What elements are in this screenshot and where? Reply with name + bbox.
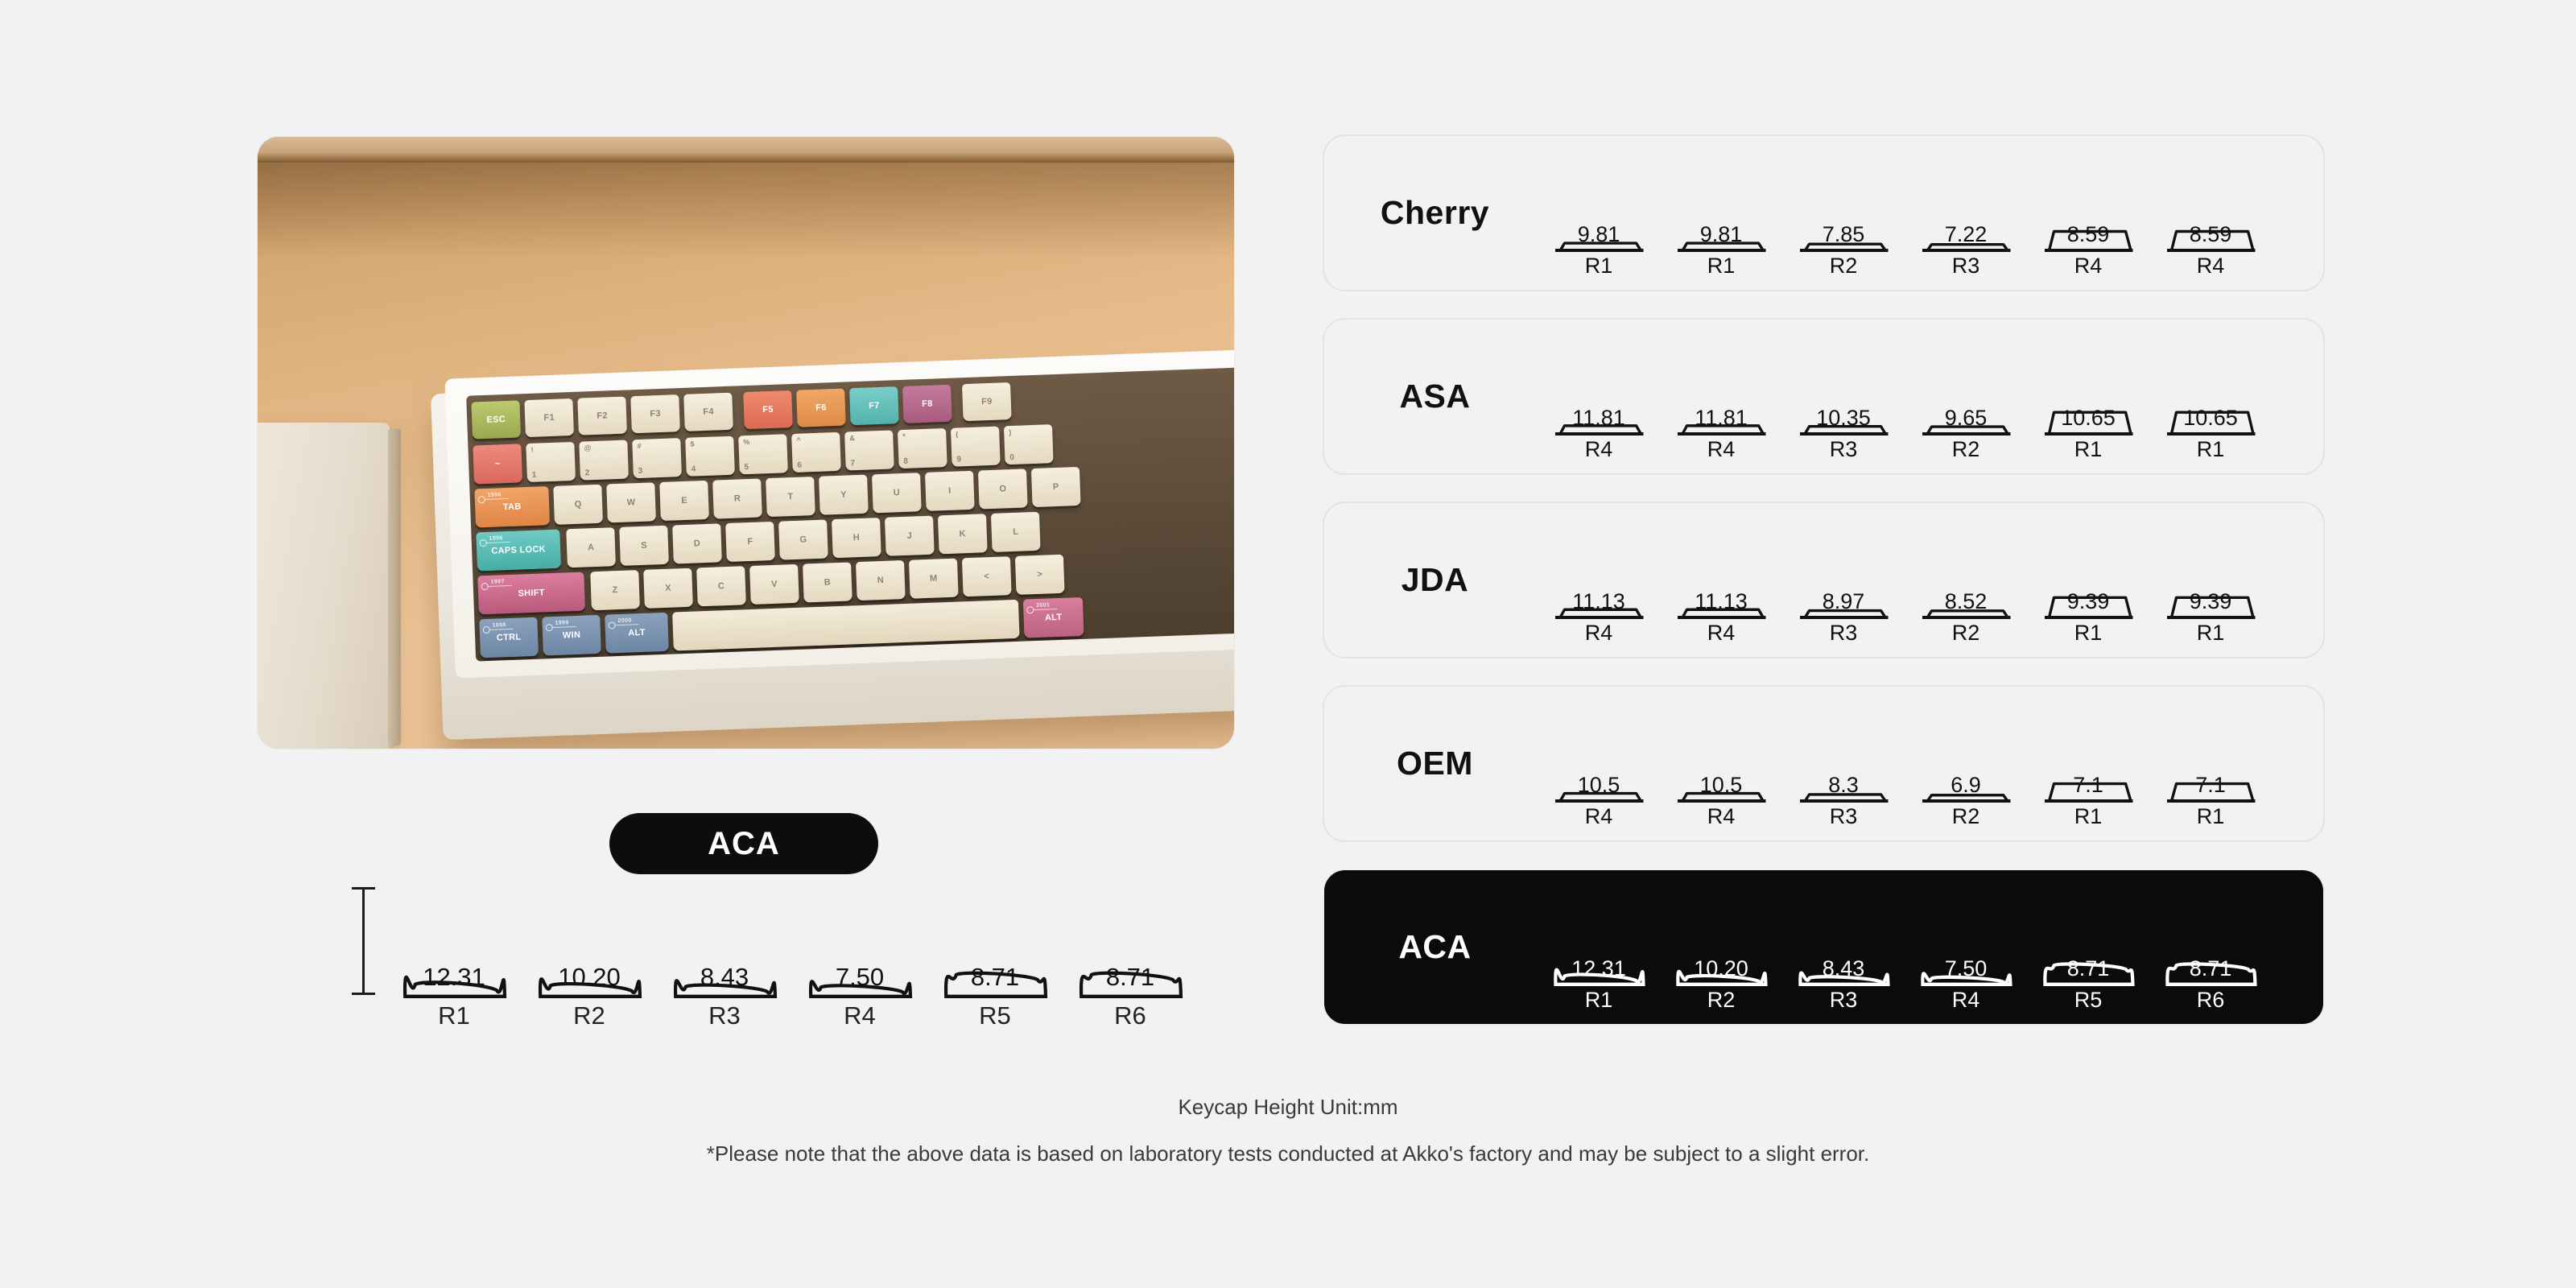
featured-profile-row: 12.31R1 10.20R2 8.43R3 7.50R4 8.71R5 8.7… [386, 869, 1143, 1030]
profile-card-asa: ASA 11.81R4 11.81R4 10.35R3 9.65R2 10.65… [1323, 318, 2325, 475]
key-label: F1 [543, 413, 555, 423]
keycap-f6: F6 [796, 389, 846, 427]
keycap-silhouette-icon: 8.59 [2027, 184, 2149, 252]
keycap-silhouette-icon: 8.71 [927, 908, 1063, 998]
keycap-row-label: R3 [1782, 437, 1905, 462]
keycap-f9: F9 [962, 382, 1012, 421]
keycap-m: M [909, 559, 959, 599]
keycap-row-label: R4 [792, 1001, 927, 1030]
key-label: 8 [903, 457, 908, 466]
key-label: L [1013, 527, 1018, 537]
measure-bar [362, 887, 365, 995]
keycap-f2: F2 [577, 397, 627, 436]
keycap-item: 6.9R2 [1905, 741, 2027, 829]
key-label-shifted: # [637, 442, 642, 450]
keycap-silhouette-icon: 10.20 [522, 902, 657, 998]
keycap-row-label: R1 [2027, 621, 2149, 646]
key-label: 5 [744, 463, 749, 472]
key-label: H [853, 533, 861, 543]
keycap-silhouette-icon: 9.39 [2027, 547, 2149, 619]
keycap-item: 9.81R1 [1660, 179, 1782, 279]
keycap-row-label: R6 [1063, 1001, 1198, 1030]
profile-keycaps: 11.81R4 11.81R4 10.35R3 9.65R2 10.65R1 1… [1538, 320, 2315, 473]
keycap-row-label: R5 [927, 1001, 1063, 1030]
keycap-e: E [659, 481, 709, 521]
keycap-item: 11.81R4 [1660, 354, 1782, 462]
keycap-shift: SHIFT1997 [477, 572, 585, 615]
key-label: F8 [922, 399, 933, 409]
keycap-height-value: 7.22 [1905, 222, 2027, 247]
featured-keycap-item: 8.43R3 [657, 910, 792, 1030]
key-label: 7 [850, 459, 855, 468]
keycap-row-label: R2 [1905, 804, 2027, 829]
keycap-win: WIN1999 [542, 615, 601, 656]
key-label: F5 [762, 405, 774, 415]
keycap-item: 8.71R5 [2027, 917, 2149, 1013]
key-label: D [694, 539, 701, 548]
featured-keycap-item: 8.71R6 [1063, 908, 1198, 1030]
keycap-silhouette-icon: 10.35 [1782, 360, 1905, 436]
keycap-item: 7.50R4 [1905, 922, 2027, 1013]
keycap-1: !1 [526, 442, 576, 482]
keycap-f8: F8 [902, 385, 952, 423]
key-label: F9 [981, 397, 993, 407]
key-label: N [877, 576, 885, 585]
year-legend: 1999 [555, 620, 568, 626]
keycap-silhouette-icon: 10.65 [2027, 358, 2149, 436]
keycap-tab: TAB1996 [474, 486, 550, 527]
keycap-height-value: 10.5 [1538, 773, 1660, 798]
key-label: K [959, 529, 966, 539]
keycap-silhouette-icon: 11.81 [1660, 354, 1782, 436]
year-legend: 1998 [492, 622, 506, 629]
keyboard-body: ESCF1F2F3F4F5F6F7F8F9~!1@2#3$4%5^6&7*8(9… [429, 313, 1234, 749]
keycap-row-label: R4 [1660, 804, 1782, 829]
keycap-height-value: 10.20 [522, 963, 657, 992]
key-label-shifted: ^ [796, 436, 801, 444]
unit-note: Keycap Height Unit:mm [0, 1095, 2576, 1120]
keycap-silhouette-icon: 7.50 [792, 914, 927, 998]
featured-keycap-item: 8.71R5 [927, 908, 1063, 1030]
keycap-height-value: 8.71 [2027, 956, 2149, 981]
profile-card-aca: ACA 12.31R1 10.20R2 8.43R3 7.50R4 8.71R5… [1323, 869, 2325, 1026]
profile-card-oem: OEM 10.5R4 10.5R4 8.3R3 6.9R2 7.1R1 7.1R… [1323, 685, 2325, 842]
keycap-height-value: 8.97 [1782, 589, 1905, 614]
year-legend: 1997 [490, 579, 504, 585]
key-label: 1 [532, 471, 537, 480]
keycap-height-value: 10.65 [2149, 406, 2272, 431]
keycap-row-label: R2 [522, 1001, 657, 1030]
desk-edge [258, 137, 1234, 163]
infographic-stage: ESCF1F2F3F4F5F6F7F8F9~!1@2#3$4%5^6&7*8(9… [0, 0, 2576, 1288]
keycap-height-value: 11.13 [1538, 589, 1660, 614]
keycap-row-label: R4 [1660, 621, 1782, 646]
year-legend: 1996 [489, 535, 503, 542]
profile-card-jda: JDA 11.13R4 11.13R4 8.97R3 8.52R2 9.39R1… [1323, 502, 2325, 658]
year-legend: 1996 [488, 492, 502, 498]
keycap-row-label: R2 [1905, 437, 2027, 462]
profile-name: OEM [1324, 687, 1546, 840]
keycap-5: %5 [738, 434, 788, 474]
keycap-item: 9.39R1 [2027, 547, 2149, 646]
keycap-height-value: 8.43 [657, 963, 792, 992]
key-label: 0 [1009, 453, 1014, 462]
keycap-z: Z [590, 570, 640, 610]
key-label: Z [612, 585, 617, 595]
keycap-item: 8.59R4 [2027, 184, 2149, 279]
key-label: < [984, 572, 989, 581]
keycap-row-label: R4 [1660, 437, 1782, 462]
keycap-row-label: R1 [2027, 804, 2149, 829]
keycap-silhouette-icon: 11.13 [1660, 540, 1782, 619]
keycap-height-value: 12.31 [1538, 956, 1660, 981]
keycap-silhouette-icon: 11.81 [1538, 354, 1660, 436]
keycap-silhouette-icon: 8.43 [657, 910, 792, 998]
key-label: F2 [597, 411, 608, 420]
keycap-height-value: 10.20 [1660, 956, 1782, 981]
keycap-n: N [856, 560, 906, 601]
keycap-9: (9 [951, 427, 1001, 467]
keycap-t: T [766, 477, 815, 517]
keycap-silhouette-icon: 7.50 [1905, 922, 2027, 986]
keycap-item: 7.22R3 [1905, 189, 2027, 279]
keycap-silhouette-icon: 8.71 [1063, 908, 1198, 998]
keycap-c: C [696, 566, 746, 606]
keycap-item: 7.85R2 [1782, 186, 1905, 279]
key-label-shifted: % [743, 438, 750, 446]
keycap-height-value: 7.1 [2027, 773, 2149, 798]
keycap-v: V [749, 564, 799, 605]
year-line-icon [552, 626, 576, 628]
profile-name: ASA [1324, 320, 1546, 473]
keycap-silhouette-icon: 7.85 [1782, 186, 1905, 252]
keycap-silhouette-icon: 8.71 [2027, 917, 2149, 986]
keycap-silhouette-icon: 8.97 [1782, 549, 1905, 619]
keycap-silhouette-icon: 10.20 [1660, 911, 1782, 986]
key-label-shifted: ! [530, 446, 534, 454]
keycap-2: @2 [579, 440, 629, 480]
profile-keycaps: 9.81R1 9.81R1 7.85R2 7.22R3 8.59R4 8.59R… [1538, 136, 2315, 290]
keycap-f5: F5 [743, 390, 793, 429]
keycap-silhouette-icon: 8.43 [1782, 919, 1905, 986]
year-line-icon [485, 498, 509, 500]
keycap-height-value: 9.39 [2149, 589, 2272, 614]
featured-keycap-item: 12.31R1 [386, 892, 522, 1030]
key-label: 9 [956, 455, 961, 464]
profile-card-cherry: Cherry 9.81R1 9.81R1 7.85R2 7.22R3 8.59R… [1323, 134, 2325, 291]
key-label: I [948, 486, 952, 496]
key-label: M [930, 573, 938, 583]
key-label-shifted: $ [690, 440, 695, 448]
measure-cap-bottom [352, 993, 375, 995]
keycap-item: 9.39R1 [2149, 547, 2272, 646]
keycap-item: 9.65R2 [1905, 362, 2027, 462]
keycap-row-label: R4 [1538, 621, 1660, 646]
keycap-item: 11.81R4 [1538, 354, 1660, 462]
keycap-item: 12.31R1 [1538, 902, 1660, 1013]
keycap-height-value: 11.81 [1538, 406, 1660, 431]
keycap-item: 8.97R3 [1782, 549, 1905, 646]
key-label: TAB [503, 502, 522, 512]
keycap-row-label: R3 [1782, 804, 1905, 829]
keycap-q: Q [553, 485, 603, 525]
keycap-silhouette-icon: 7.1 [2027, 740, 2149, 803]
keycap-silhouette-icon: 8.71 [2149, 917, 2272, 986]
keycap-item: 8.71R6 [2149, 917, 2272, 1013]
keycap-f7: F7 [849, 386, 899, 425]
profile-cards-list: Cherry 9.81R1 9.81R1 7.85R2 7.22R3 8.59R… [1323, 134, 2325, 1052]
keycap-silhouette-icon: 9.81 [1538, 179, 1660, 252]
featured-keycap-item: 10.20R2 [522, 902, 657, 1030]
year-line-icon [486, 542, 510, 543]
keycap-8: *8 [898, 428, 947, 469]
keycap-height-value: 8.71 [1063, 963, 1198, 992]
key-label: SHIFT [518, 588, 545, 598]
keycap-item: 10.20R2 [1660, 911, 1782, 1013]
keycap-height-value: 9.65 [1905, 406, 2027, 431]
keycap-row-label: R1 [2149, 621, 2272, 646]
keycap-<: < [962, 556, 1012, 597]
keycap-f3: F3 [630, 394, 680, 433]
keycap-j: J [885, 516, 935, 556]
keycap-row-label: R1 [2149, 804, 2272, 829]
key-label: Y [840, 490, 847, 500]
keycap-row-label: R2 [1905, 621, 2027, 646]
featured-keycap-item: 7.50R4 [792, 914, 927, 1030]
keycap-row-label: R4 [1538, 804, 1660, 829]
keycap-f1: F1 [524, 398, 574, 437]
keycap-item: 10.65R1 [2027, 358, 2149, 462]
keycap-row-label: R1 [2149, 437, 2272, 462]
keycap-item: 7.1R1 [2149, 740, 2272, 829]
key-label: 2 [585, 469, 590, 477]
keycap-silhouette-icon: 8.52 [1905, 551, 2027, 619]
keycap-height-value: 8.3 [1782, 773, 1905, 798]
keycap-item: 10.5R4 [1660, 726, 1782, 829]
key-label: ~ [495, 459, 501, 469]
key-label-shifted: ) [1009, 428, 1012, 436]
side-box-prop [258, 423, 390, 749]
key-label: J [906, 531, 912, 541]
keycap-height-value: 8.59 [2027, 222, 2149, 247]
keyboard-keys-area: ESCF1F2F3F4F5F6F7F8F9~!1@2#3$4%5^6&7*8(9… [466, 365, 1234, 662]
keycap-silhouette-icon: 6.9 [1905, 741, 2027, 803]
keycap-w: W [606, 482, 656, 522]
key-label: 6 [797, 461, 802, 470]
keycap-silhouette-icon: 12.31 [386, 892, 522, 998]
keycap-row-label: R4 [2027, 254, 2149, 279]
year-legend: 2000 [617, 617, 631, 624]
keycap-row-label: R3 [1905, 254, 2027, 279]
year-line-icon [1033, 609, 1057, 610]
keycap-7: &7 [844, 430, 894, 470]
key-label: ALT [628, 628, 646, 638]
keycap-row-label: R6 [2149, 988, 2272, 1013]
keycap-item: 7.1R1 [2027, 740, 2149, 829]
keycap-row-label: R2 [1660, 988, 1782, 1013]
keycap-3: #3 [632, 438, 682, 478]
keycap-i: I [925, 471, 975, 511]
disclaimer-note: *Please note that the above data is base… [0, 1141, 2576, 1166]
keyboard-photo: ESCF1F2F3F4F5F6F7F8F9~!1@2#3$4%5^6&7*8(9… [258, 137, 1234, 749]
key-label: R [734, 493, 741, 503]
keycap-silhouette-icon: 8.59 [2149, 184, 2272, 252]
keycap-height-value: 10.35 [1782, 406, 1905, 431]
keycap-item: 10.35R3 [1782, 360, 1905, 462]
keycap-4: $4 [685, 436, 735, 477]
profile-keycaps: 10.5R4 10.5R4 8.3R3 6.9R2 7.1R1 7.1R1 [1538, 687, 2315, 840]
keycap-row-label: R1 [2027, 437, 2149, 462]
key-label: 4 [691, 464, 696, 473]
key-label: F4 [703, 407, 714, 417]
key-label: G [799, 535, 807, 544]
keycap-item: 11.13R4 [1660, 540, 1782, 646]
keycap-p: P [1031, 467, 1081, 507]
keycap-height-value: 12.31 [386, 963, 522, 992]
profile-name: JDA [1324, 503, 1546, 657]
profile-name: Cherry [1324, 136, 1546, 290]
keycap-item: 8.59R4 [2149, 184, 2272, 279]
keycap-x: X [643, 568, 693, 609]
keycap-row-label: R4 [1538, 437, 1660, 462]
keycap-silhouette-icon: 10.65 [2149, 358, 2272, 436]
key-label-shifted: * [902, 432, 906, 440]
keycap-row-label: R3 [1782, 621, 1905, 646]
year-legend: 2001 [1036, 602, 1050, 609]
keycap-s: S [619, 526, 669, 566]
keycap-r: R [712, 478, 762, 518]
keycap-row-label: R1 [1660, 254, 1782, 279]
keycap-silhouette-icon: 7.1 [2149, 740, 2272, 803]
keycap-0: )0 [1004, 424, 1054, 464]
key-label: Q [574, 500, 581, 510]
keycap-silhouette-icon: 10.5 [1538, 726, 1660, 803]
key-label: S [641, 541, 647, 551]
key-label: F [747, 537, 753, 547]
keycap-o: O [978, 469, 1028, 509]
key-label: WIN [563, 630, 581, 641]
key-label: A [588, 543, 595, 552]
keycap-height-value: 9.81 [1660, 222, 1782, 247]
profile-keycaps: 11.13R4 11.13R4 8.97R3 8.52R2 9.39R1 9.3… [1538, 503, 2315, 657]
keycap-height-value: 6.9 [1905, 773, 2027, 798]
key-label: W [627, 497, 636, 507]
keycap-silhouette-icon: 9.39 [2149, 547, 2272, 619]
keycap-row-label: R4 [1905, 988, 2027, 1013]
keycap-height-value: 7.85 [1782, 222, 1905, 247]
keycap-silhouette-icon: 10.5 [1660, 726, 1782, 803]
keycap-height-value: 11.81 [1660, 406, 1782, 431]
height-measure-icon [352, 887, 374, 995]
key-label: E [681, 496, 687, 506]
keycap-item: 9.81R1 [1538, 179, 1660, 279]
keycap-item: 8.43R3 [1782, 919, 1905, 1013]
key-label: T [787, 492, 793, 502]
keycap-row-label: R1 [386, 1001, 522, 1030]
keycap-ctrl: CTRL1998 [479, 617, 539, 658]
keycap-item: 10.65R1 [2149, 358, 2272, 462]
keycap-item: 8.3R3 [1782, 735, 1905, 829]
keycap-height-value: 7.50 [792, 963, 927, 992]
keycap-6: ^6 [791, 432, 841, 473]
keycap-alt-right: ALT2001 [1023, 597, 1084, 638]
key-label: P [1053, 482, 1059, 492]
keycap->: > [1015, 555, 1065, 595]
key-label: > [1037, 570, 1042, 580]
key-label-shifted: @ [584, 444, 591, 452]
year-line-icon [615, 624, 639, 625]
keycap-item: 11.13R4 [1538, 540, 1660, 646]
keycap-item: 10.5R4 [1538, 726, 1660, 829]
keycap-h: H [832, 518, 881, 558]
keycap-height-value: 9.81 [1538, 222, 1660, 247]
keycap-spacebar [672, 600, 1019, 651]
keycap-row-label: R2 [1782, 254, 1905, 279]
keycap-height-value: 7.50 [1905, 956, 2027, 981]
keycap-height-value: 9.39 [2027, 589, 2149, 614]
keycap-caps-lock: CAPS LOCK1996 [476, 530, 561, 572]
keycap-f: F [725, 522, 775, 562]
keycap-y: Y [819, 475, 869, 515]
keycap-height-value: 8.43 [1782, 956, 1905, 981]
keycap-alt-left: ALT2000 [605, 613, 669, 654]
keycap-row-label: R3 [1782, 988, 1905, 1013]
keycap-item: 8.52R2 [1905, 551, 2027, 646]
keycap-silhouette-icon: 9.65 [1905, 362, 2027, 436]
keycap-l: L [991, 512, 1041, 552]
key-label: ALT [1045, 613, 1063, 623]
keycap-height-value: 10.5 [1660, 773, 1782, 798]
key-label-shifted: & [849, 434, 855, 442]
key-label: ESC [486, 415, 506, 425]
key-label: O [999, 484, 1006, 493]
keycap-f4: F4 [683, 393, 733, 431]
key-label: CTRL [497, 632, 522, 642]
key-label: F3 [650, 409, 661, 419]
profile-keycaps: 12.31R1 10.20R2 8.43R3 7.50R4 8.71R5 8.7… [1538, 870, 2315, 1024]
keycap-row-label: R1 [1538, 988, 1660, 1013]
key-label: U [894, 488, 901, 497]
keycap-row-label: R4 [2149, 254, 2272, 279]
year-line-icon [489, 629, 514, 630]
key-label-shifted: ( [956, 430, 959, 438]
key-label: X [665, 584, 671, 593]
keycap-g: G [778, 519, 828, 559]
keycap-silhouette-icon: 8.3 [1782, 735, 1905, 803]
keycap-u: U [872, 473, 922, 513]
keycap-height-value: 11.13 [1660, 589, 1782, 614]
keycap-k: K [938, 514, 988, 554]
keycap-d: D [672, 523, 722, 563]
keycap-silhouette-icon: 9.81 [1660, 179, 1782, 252]
key-label: F6 [815, 402, 827, 412]
keycap-tilde: ~ [473, 444, 522, 484]
keycap-row-label: R3 [657, 1001, 792, 1030]
wall-shadow [258, 163, 1234, 259]
keycap-esc: ESC [471, 400, 521, 439]
keycap-a: A [566, 527, 616, 568]
aca-badge: ACA [609, 813, 878, 874]
keycap-height-value: 8.52 [1905, 589, 2027, 614]
key-label: 3 [638, 467, 642, 476]
keycap-height-value: 10.65 [2027, 406, 2149, 431]
key-label: B [824, 577, 832, 587]
keycap-row-label: R5 [2027, 988, 2149, 1013]
year-line-icon [488, 585, 512, 587]
key-label: C [718, 581, 725, 591]
keycap-b: B [803, 562, 852, 602]
key-label: V [771, 580, 778, 589]
